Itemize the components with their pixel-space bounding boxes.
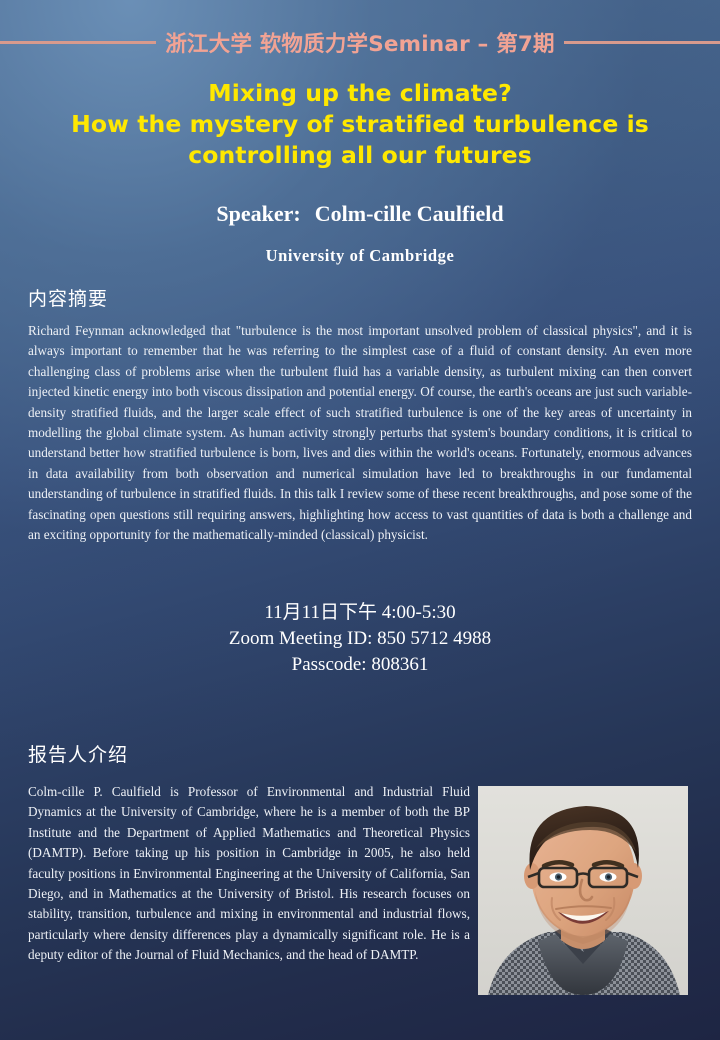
abstract-text: Richard Feynman acknowledged that "turbu… [28, 321, 692, 545]
meeting-info: 11月11日下午 4:00-5:30 Zoom Meeting ID: 850 … [0, 600, 720, 678]
speaker-affiliation: University of Cambridge [0, 246, 720, 266]
speaker-photo [478, 786, 688, 995]
meeting-passcode: Passcode: 808361 [0, 652, 720, 678]
talk-title: Mixing up the climate? How the mystery o… [30, 78, 690, 171]
talk-title-line-3: controlling all our futures [30, 140, 690, 171]
speaker-portrait-icon [478, 786, 688, 995]
bio-heading: 报告人介绍 [28, 740, 128, 767]
talk-title-line-2: How the mystery of stratified turbulence… [30, 109, 690, 140]
header-rule-right [564, 41, 720, 44]
talk-title-line-1: Mixing up the climate? [30, 78, 690, 109]
seminar-poster: 浙江大学 软物质力学Seminar – 第7期 Mixing up the cl… [0, 0, 720, 1040]
meeting-zoom-id: Zoom Meeting ID: 850 5712 4988 [0, 626, 720, 652]
abstract-heading: 内容摘要 [28, 284, 108, 311]
header-rule-left [0, 41, 156, 44]
speaker-line: Speaker:Colm-cille Caulfield [0, 201, 720, 227]
bio-text: Colm-cille P. Caulfield is Professor of … [28, 782, 470, 966]
speaker-label: Speaker: [216, 201, 300, 226]
seminar-series-title: 浙江大学 软物质力学Seminar – 第7期 [165, 27, 555, 58]
meeting-datetime: 11月11日下午 4:00-5:30 [0, 600, 720, 626]
speaker-name: Colm-cille Caulfield [315, 201, 504, 226]
header-banner: 浙江大学 软物质力学Seminar – 第7期 [0, 22, 720, 62]
